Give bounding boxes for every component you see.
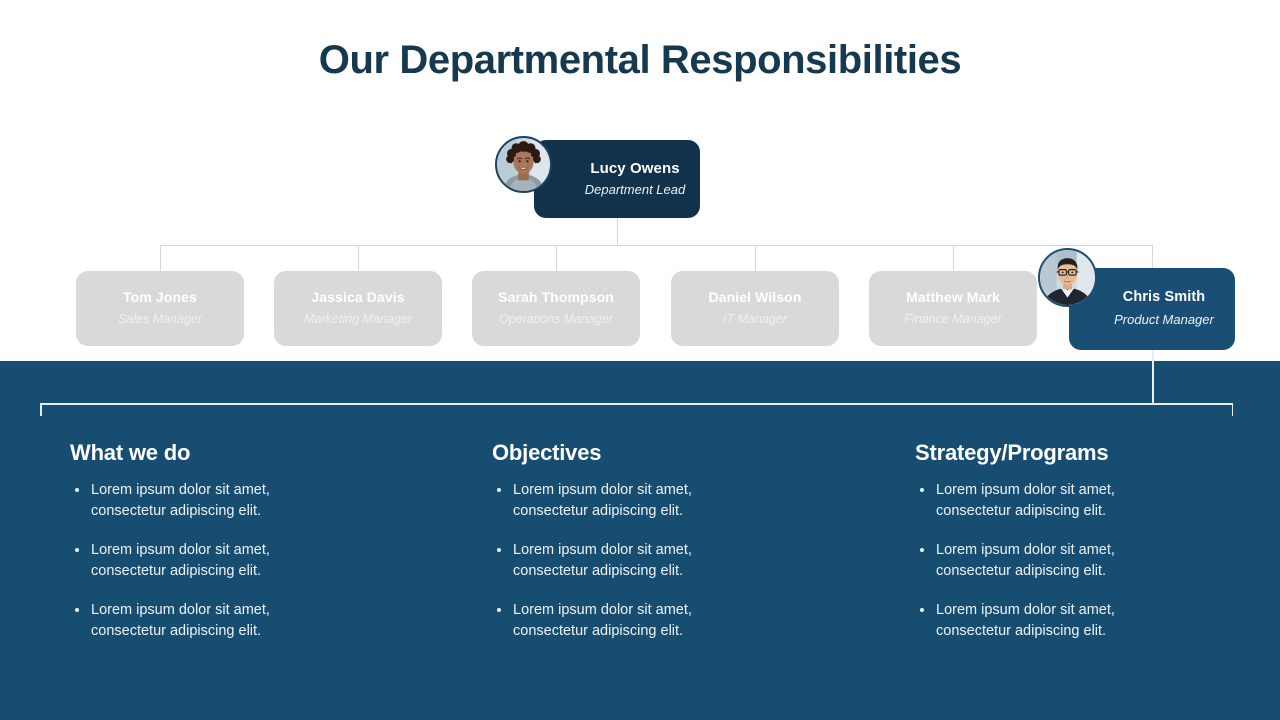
bullet-list: Lorem ipsum dolor sit amet, consectetur … [70,480,430,642]
panel-rule-right-tick [1232,403,1234,416]
list-item: Lorem ipsum dolor sit amet, consectetur … [70,600,306,642]
org-card-manager-name: Chris Smith [1123,287,1205,307]
detail-column-strategy-programs: Strategy/Programs Lorem ipsum dolor sit … [915,440,1255,660]
list-item: Lorem ipsum dolor sit amet, consectetur … [70,540,306,582]
org-card-manager-role: Finance Manager [904,309,1001,329]
connector-drop-jassica-davis [358,245,359,271]
org-card-manager-name: Sarah Thompson [498,288,614,308]
connector-drop-daniel-wilson [755,245,756,271]
org-card-manager-name: Daniel Wilson [709,288,802,308]
connector-lead-drop [617,218,618,245]
org-card-manager-name: Jassica Davis [311,288,404,308]
org-card-manager[interactable]: Sarah Thompson Operations Manager [472,271,640,346]
list-item: Lorem ipsum dolor sit amet, consectetur … [492,540,728,582]
connector-drop-sarah-thompson [556,245,557,271]
list-item: Lorem ipsum dolor sit amet, consectetur … [492,480,728,522]
panel-divider-rule [40,403,1233,405]
detail-column-what-we-do: What we do Lorem ipsum dolor sit amet, c… [70,440,430,660]
detail-column-objectives: Objectives Lorem ipsum dolor sit amet, c… [492,440,852,660]
detail-columns: What we do Lorem ipsum dolor sit amet, c… [0,440,1280,670]
org-card-manager-role: Product Manager [1114,310,1214,331]
page-title: Our Departmental Responsibilities [0,38,1280,83]
org-card-manager[interactable]: Matthew Mark Finance Manager [869,271,1037,346]
panel-rule-left-tick [40,403,42,416]
org-card-manager-name: Tom Jones [123,288,197,308]
org-card-manager-role: Marketing Manager [304,309,412,329]
list-item: Lorem ipsum dolor sit amet, consectetur … [915,480,1151,522]
org-card-manager-role: Operations Manager [499,309,613,329]
org-card-lead[interactable]: Lucy Owens Department Lead [534,140,700,218]
org-card-manager-role: IT Manager [723,309,787,329]
org-card-manager-role: Sales Manager [118,309,202,329]
column-heading: Objectives [492,440,852,466]
list-item: Lorem ipsum dolor sit amet, consectetur … [915,540,1151,582]
org-card-lead-name: Lucy Owens [590,159,679,179]
connector-drop-matthew-mark [953,245,954,271]
bullet-list: Lorem ipsum dolor sit amet, consectetur … [915,480,1255,642]
avatar-chris-smith [1038,248,1097,307]
avatar-lucy-owens [495,136,552,193]
org-card-manager[interactable]: Tom Jones Sales Manager [76,271,244,346]
org-card-manager-name: Matthew Mark [906,288,1000,308]
org-card-manager[interactable]: Daniel Wilson IT Manager [671,271,839,346]
list-item: Lorem ipsum dolor sit amet, consectetur … [492,600,728,642]
slide-canvas: Our Departmental Responsibilities Lucy O… [0,0,1280,720]
list-item: Lorem ipsum dolor sit amet, consectetur … [70,480,306,522]
list-item: Lorem ipsum dolor sit amet, consectetur … [915,600,1151,642]
connector-horizontal-bus [160,245,1153,246]
org-card-lead-role: Department Lead [585,180,685,200]
column-heading: What we do [70,440,430,466]
org-card-manager[interactable]: Jassica Davis Marketing Manager [274,271,442,346]
connector-drop-tom-jones [160,245,161,271]
connector-chris-to-panel [1152,350,1154,404]
column-heading: Strategy/Programs [915,440,1255,466]
bullet-list: Lorem ipsum dolor sit amet, consectetur … [492,480,852,642]
